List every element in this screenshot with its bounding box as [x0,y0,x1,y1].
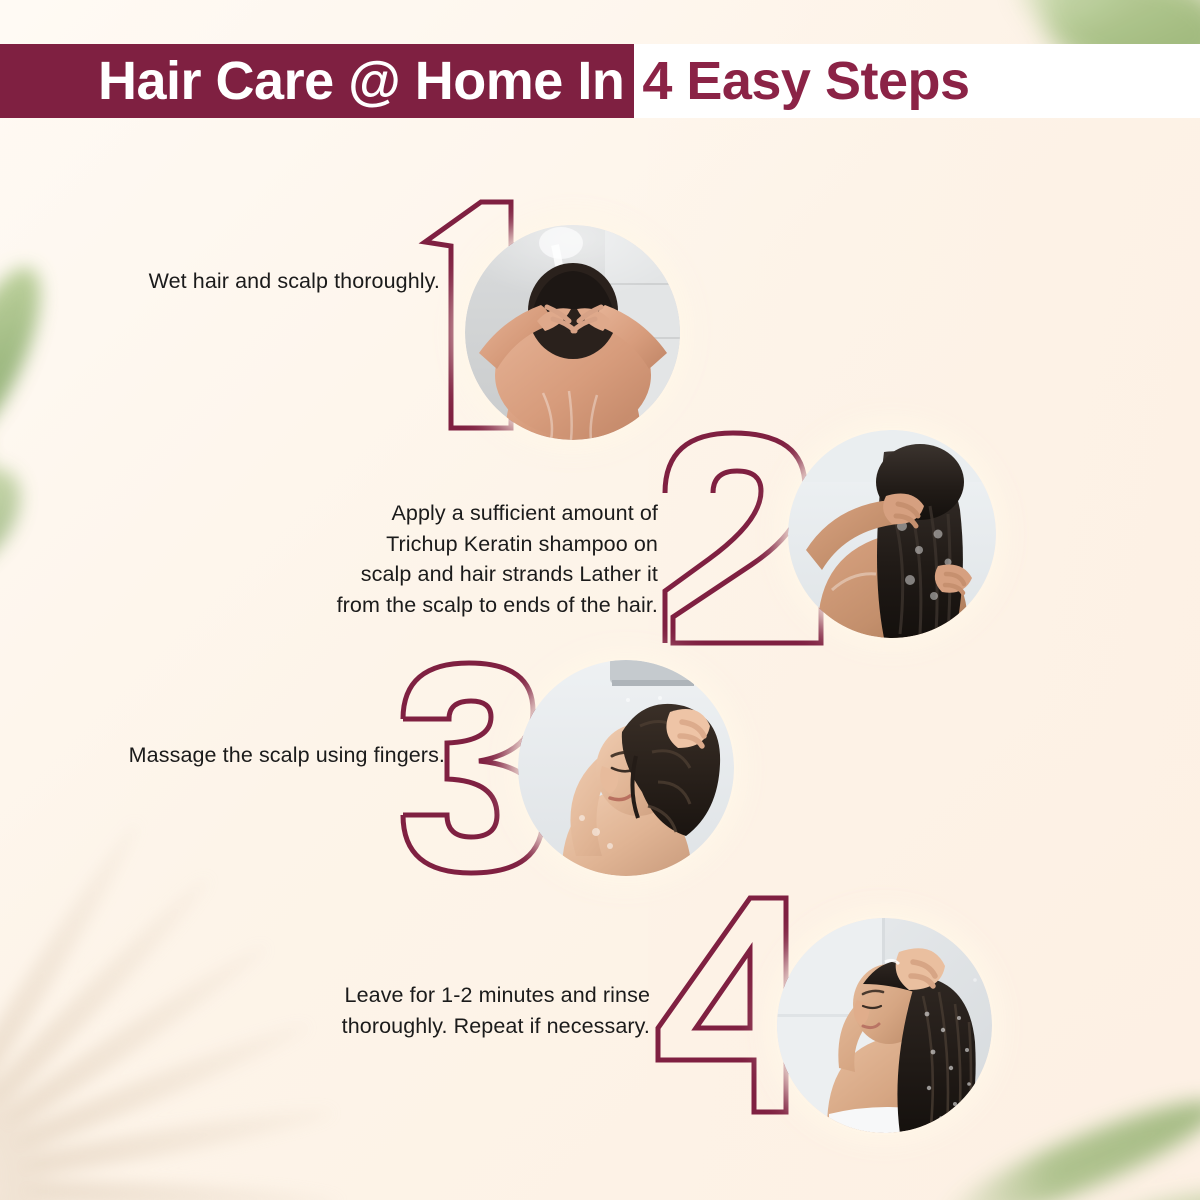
step-2-caption: Apply a sufficient amount of Trichup Ker… [288,498,658,620]
step-3-caption: Massage the scalp using fingers. [90,740,445,771]
page-title-part-2: 4 Easy Steps [642,54,969,108]
header-banner-left-block: Hair Care @ Home In [0,44,634,118]
steps-container: Wet hair and scalp thoroughly. [0,0,1200,1200]
step-4-photo [777,918,992,1133]
header-banner: Hair Care @ Home In 4 Easy Steps [0,44,1200,118]
step-1-photo [465,225,680,440]
step-3-photo [518,660,734,876]
step-2-photo [788,430,996,638]
header-banner-right-block: 4 Easy Steps [634,44,1200,118]
step-4-caption: Leave for 1-2 minutes and rinse thorough… [300,980,650,1041]
page-title-part-1: Hair Care @ Home In [98,54,624,108]
step-1-caption: Wet hair and scalp thoroughly. [100,266,440,297]
